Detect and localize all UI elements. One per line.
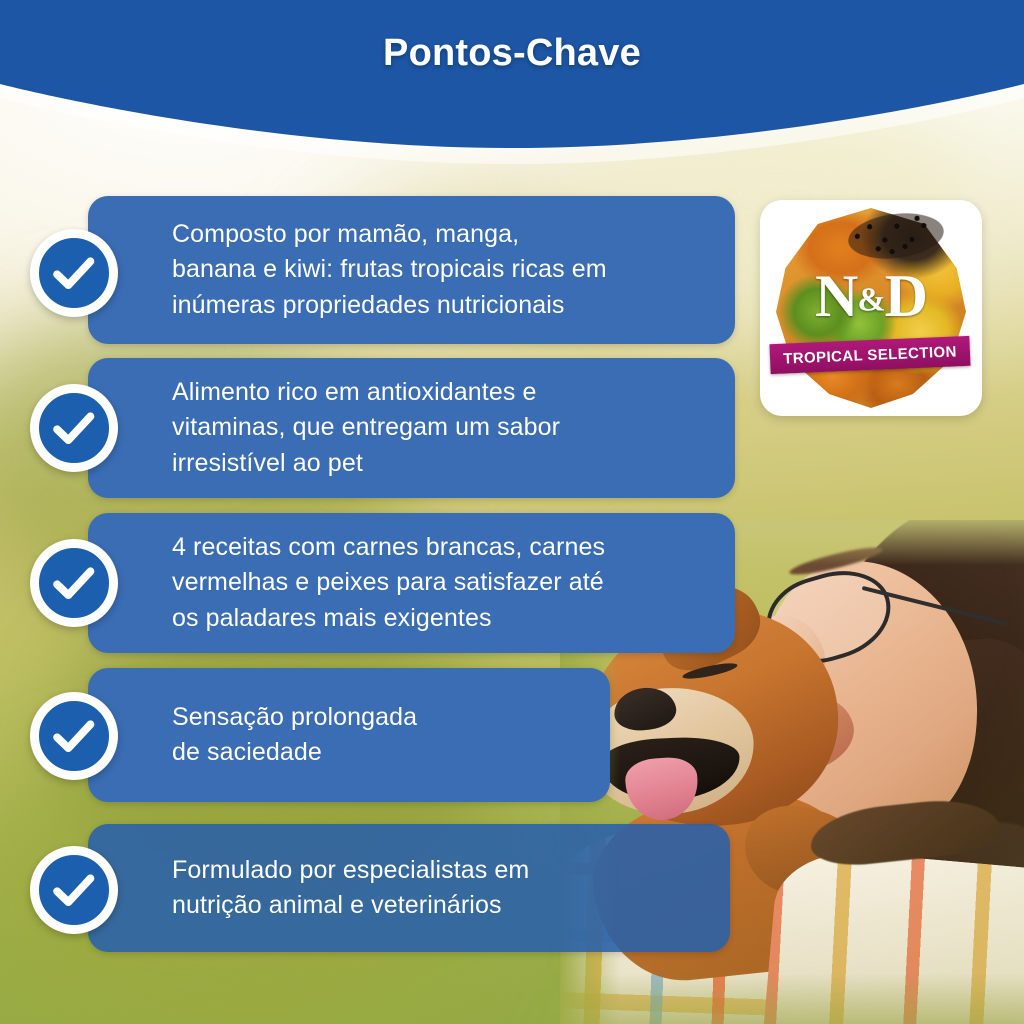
check-circle-icon [30,229,118,317]
list-item-label: Formulado por especialistas em nutrição … [172,853,529,924]
brand-letter-d: D [885,263,927,329]
list-item[interactable]: Composto por mamão, manga, banana e kiwi… [88,196,735,344]
list-item-label: Sensação prolongada de saciedade [172,700,417,771]
check-circle-icon [30,539,118,627]
key-points-list: Composto por mamão, manga, banana e kiwi… [0,0,1024,1024]
check-circle-icon [30,384,118,472]
product-logo-card: N&D TROPICAL SELECTION [760,200,982,416]
list-item-label: Alimento rico em antioxidantes e vitamin… [172,375,560,482]
product-logo: N&D TROPICAL SELECTION [776,208,966,408]
list-item[interactable]: Sensação prolongada de saciedade [88,668,610,802]
poster-root: Pontos-Chave Composto por mamão, manga, … [0,0,1024,1024]
list-item[interactable]: Alimento rico em antioxidantes e vitamin… [88,358,735,498]
brand-letter-n: N [815,263,857,329]
list-item-label: 4 receitas com carnes brancas, carnes ve… [172,530,605,637]
list-item[interactable]: 4 receitas com carnes brancas, carnes ve… [88,513,735,653]
brand-wordmark: N&D [776,266,966,326]
list-item-label: Composto por mamão, manga, banana e kiwi… [172,217,607,324]
tagline-label: TROPICAL SELECTION [783,343,957,367]
list-item[interactable]: Formulado por especialistas em nutrição … [88,824,730,952]
check-circle-icon [30,846,118,934]
brand-ampersand: & [857,282,884,319]
check-circle-icon [30,692,118,780]
